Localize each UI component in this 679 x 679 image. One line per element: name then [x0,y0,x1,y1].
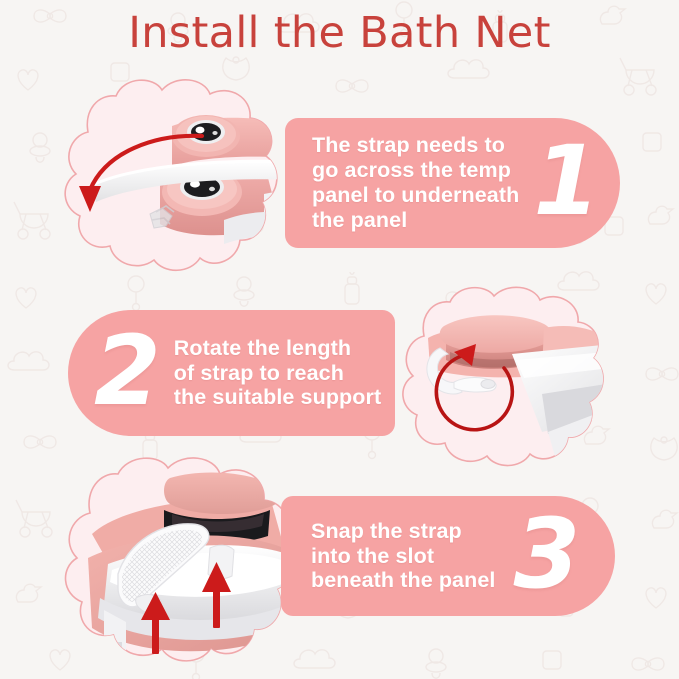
step-3-number: 3 [513,515,577,594]
step-2-illustration [392,282,632,474]
step-1-text: The strap needs to go across the temp pa… [312,133,519,233]
step-3-text: Snap the strap into the slot beneath the… [311,519,495,594]
step-1-illustration [54,74,304,279]
step-2-panel: 2 Rotate the length of strap to reach th… [68,310,395,436]
step-1-panel: The strap needs to go across the temp pa… [285,118,620,248]
page-title: Install the Bath Net [0,8,679,58]
step-3-panel: Snap the strap into the slot beneath the… [281,496,615,616]
step-1-number: 1 [533,142,597,221]
step-2-text: Rotate the length of strap to reach the … [174,336,381,411]
step-2-number: 2 [94,332,158,411]
infographic-canvas: Install the Bath Net [0,0,679,679]
